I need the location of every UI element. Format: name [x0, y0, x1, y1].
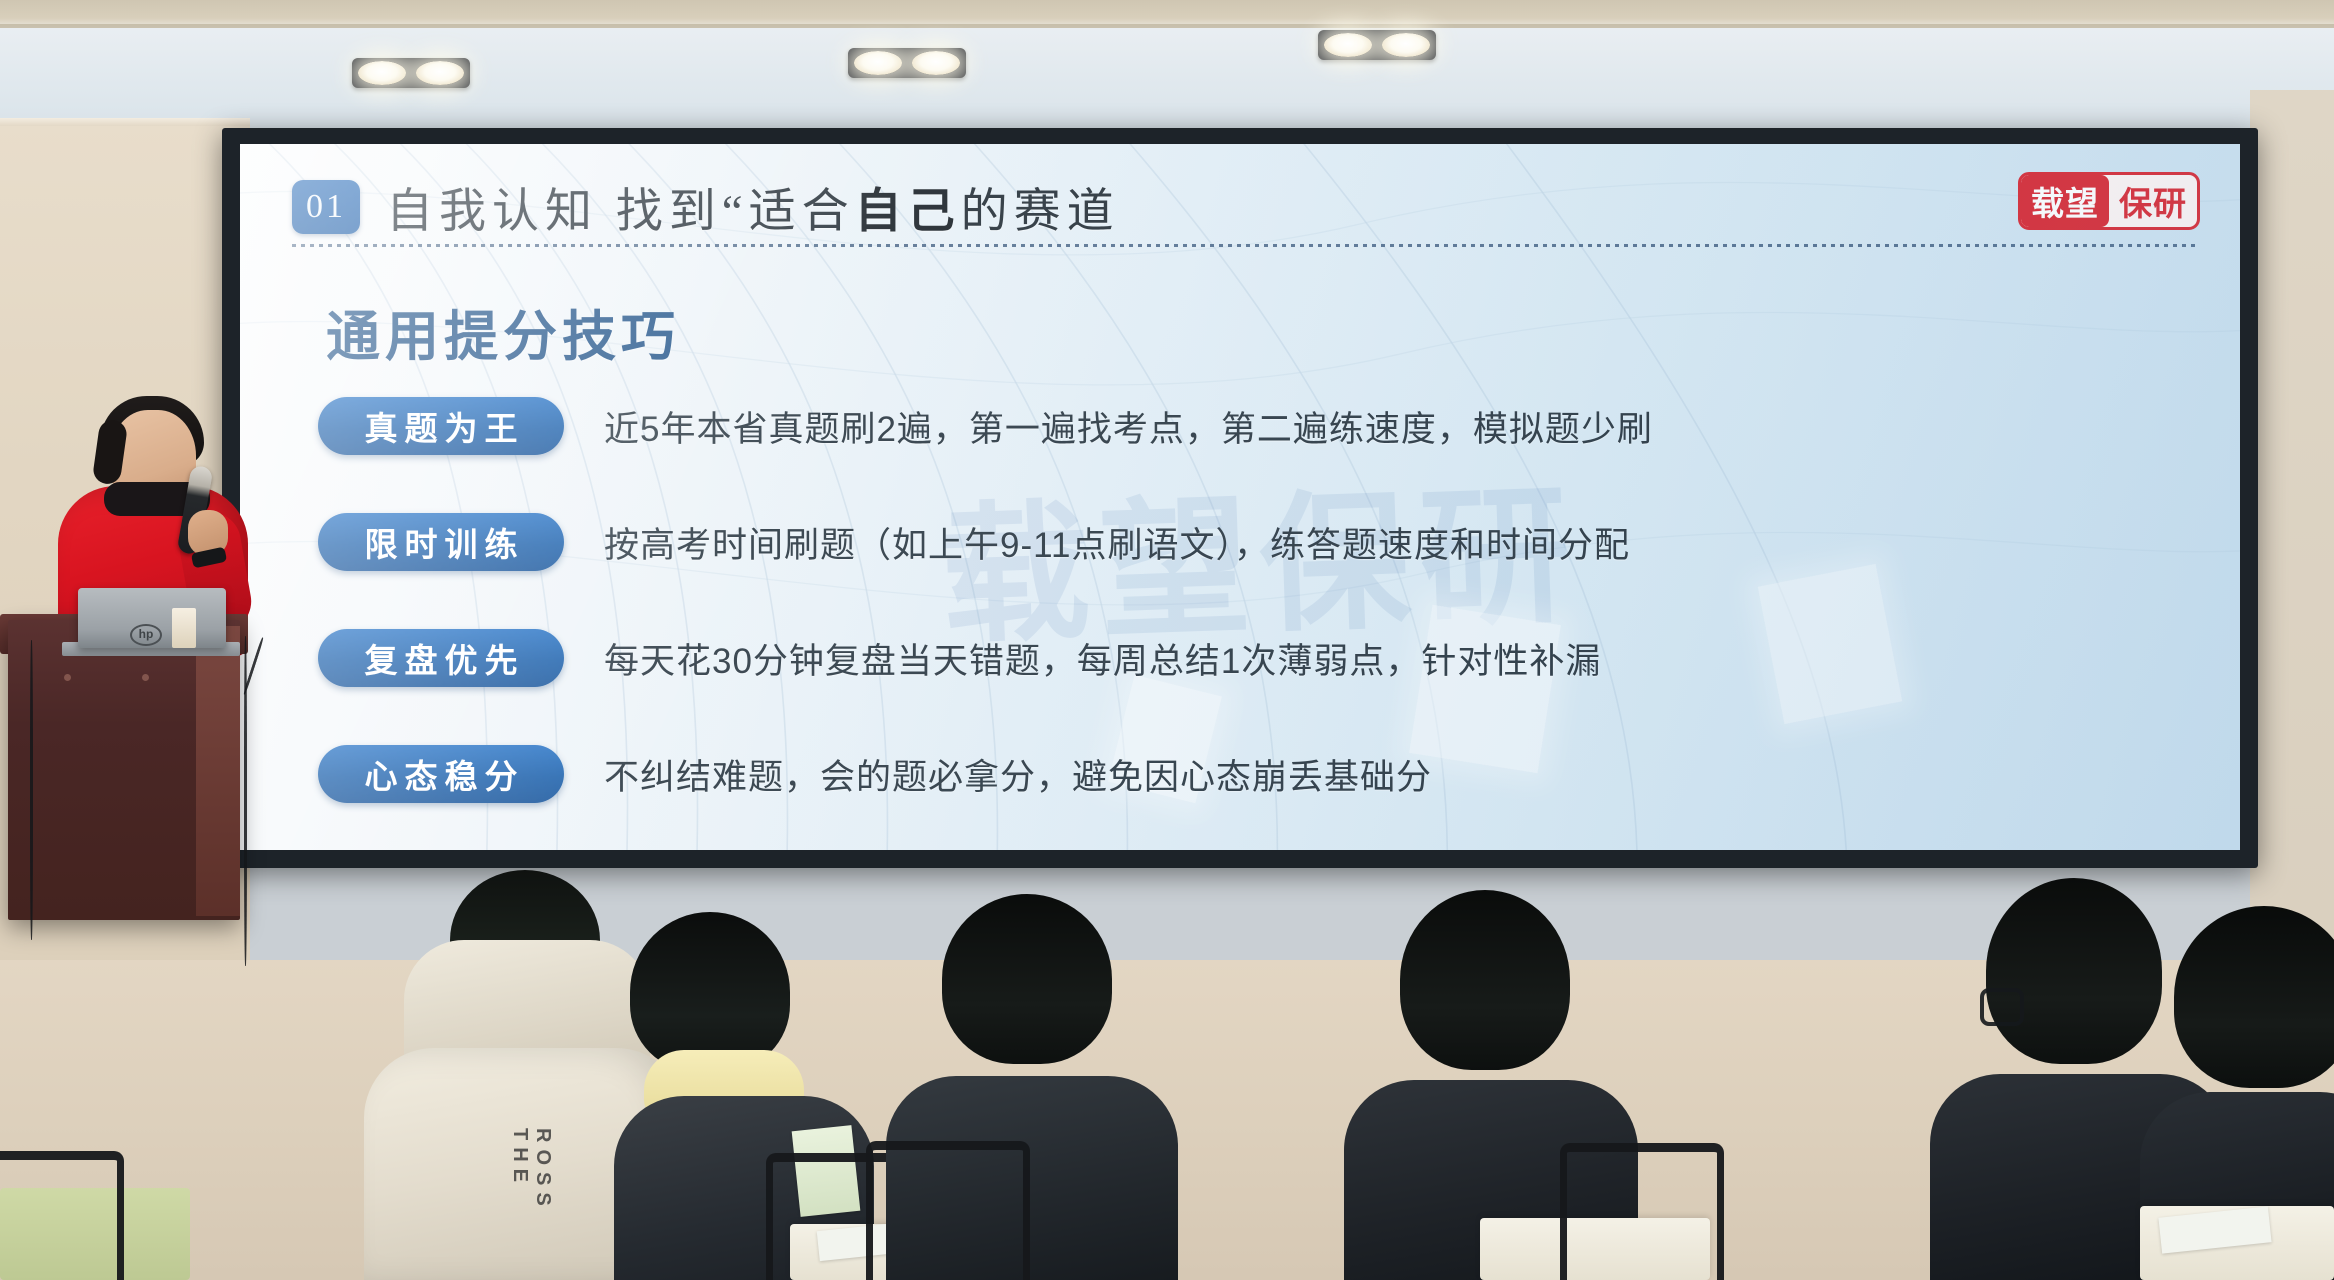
- tip-description: 按高考时间刷题（如上午9-11点刷语文），练答题速度和时间分配: [604, 517, 1630, 568]
- section-number-badge: 01: [292, 180, 360, 234]
- slide-title-suffix: 的赛道: [961, 186, 1120, 238]
- projection-screen: 载望保研 01 自我认知 找到“适合自己的赛道 载望 保研 通用提分技巧 真题为…: [240, 144, 2240, 850]
- laptop-brand-logo: hp: [130, 624, 162, 646]
- page-title: 自我认知 找到“适合自己的赛道: [386, 172, 1120, 241]
- audience-2-head: [630, 912, 790, 1072]
- audience-5-head: [1986, 878, 2162, 1064]
- ceiling-spotlight-1: [352, 58, 470, 88]
- left-wall-top-trim: [0, 118, 250, 126]
- audience-4-head: [1400, 890, 1570, 1070]
- tips-list: 真题为王 近5年本省真题刷2遍，第一遍找考点，第二遍练速度，模拟题少刷 限时训练…: [318, 396, 2200, 850]
- audience-6-head: [2174, 906, 2334, 1088]
- list-item: 心态稳分 不纠结难题，会的题必拿分，避免因心态崩丢基础分: [318, 744, 2200, 804]
- slide-title-emphasis: 自己: [855, 186, 961, 238]
- brand-logo-word: 保研: [2109, 177, 2197, 225]
- audience-3-head: [942, 894, 1112, 1064]
- eyeglasses-icon: [1980, 988, 2024, 1026]
- desk-card: [172, 608, 196, 648]
- power-cable-left: [30, 640, 33, 940]
- projection-screen-frame: 载望保研 01 自我认知 找到“适合自己的赛道 载望 保研 通用提分技巧 真题为…: [222, 128, 2258, 868]
- list-item: 限时训练 按高考时间刷题（如上午9-11点刷语文），练答题速度和时间分配: [318, 512, 2200, 572]
- tip-label-badge: 真题为王: [318, 397, 564, 455]
- section-heading: 通用提分技巧: [326, 292, 680, 371]
- ceiling-spotlight-2: [848, 48, 966, 78]
- laptop[interactable]: hp: [78, 588, 226, 648]
- chair-left: [0, 1151, 124, 1280]
- slide-title-row: 01 自我认知 找到“适合自己的赛道: [292, 172, 1120, 241]
- tip-description: 每天花30分钟复盘当天错题，每周总结1次薄弱点，针对性补漏: [604, 633, 1601, 684]
- podium-side-panel: [196, 626, 240, 916]
- jacket-back-text: ROSS THE: [508, 1128, 554, 1280]
- brand-logo-mark: 载望: [2021, 175, 2109, 227]
- list-item: 真题为王 近5年本省真题刷2遍，第一遍找考点，第二遍练速度，模拟题少刷: [318, 396, 2200, 456]
- list-item: 复盘优先 每天花30分钟复盘当天错题，每周总结1次薄弱点，针对性补漏: [318, 628, 2200, 688]
- slide-content: 01 自我认知 找到“适合自己的赛道 载望 保研 通用提分技巧 真题为王 近5年…: [240, 144, 2240, 850]
- lecture-hall-photo: 载望保研 01 自我认知 找到“适合自己的赛道 载望 保研 通用提分技巧 真题为…: [0, 0, 2334, 1280]
- podium-screw-right: [142, 674, 149, 681]
- chair-4: [1560, 1143, 1724, 1280]
- ceiling-spotlight-3: [1318, 30, 1436, 60]
- slide-title-prefix: 自我认知 找到“适合: [386, 186, 855, 238]
- title-divider: [292, 244, 2200, 247]
- brand-logo: 载望 保研: [2018, 172, 2200, 230]
- tip-description: 近5年本省真题刷2遍，第一遍找考点，第二遍练速度，模拟题少刷: [604, 401, 1653, 452]
- tip-label-badge: 心态稳分: [318, 745, 564, 803]
- tip-description: 不纠结难题，会的题必拿分，避免因心态崩丢基础分: [604, 749, 1432, 800]
- chair-3: [866, 1141, 1030, 1280]
- podium-screw-left: [64, 674, 71, 681]
- tip-label-badge: 限时训练: [318, 513, 564, 571]
- tip-label-badge: 复盘优先: [318, 629, 564, 687]
